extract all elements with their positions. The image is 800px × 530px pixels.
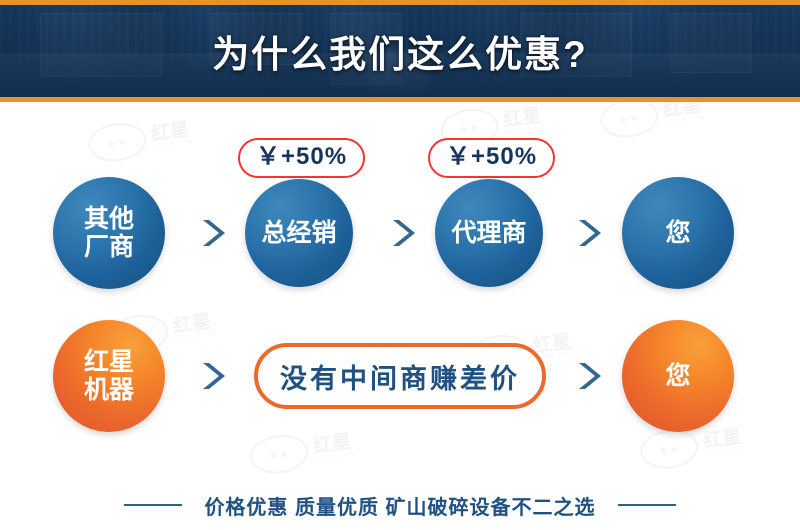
node-general-distributor[interactable]: 总经销 <box>245 179 353 287</box>
watermark-subtext: HONGXING <box>175 330 216 342</box>
watermark-seal-icon: ★★ <box>248 431 311 477</box>
node-customer-blue[interactable]: 您 <box>622 177 734 289</box>
markup-badge-distributor: ￥+50% <box>238 138 365 178</box>
watermark-subtext: HONGXING <box>153 138 194 150</box>
footer-tagline: 价格优惠 质量优质 矿山破碎设备不二之选 <box>0 480 800 530</box>
watermark-subtext: HONGXING <box>505 124 546 136</box>
watermark-subtext: HONGXING <box>705 445 746 457</box>
chevron-right-icon-4 <box>192 355 234 397</box>
watermark-text: 红星 <box>312 431 355 455</box>
node-other-manufacturer[interactable]: 其他 厂商 <box>53 177 165 289</box>
no-middleman-pill[interactable]: 没有中间商赚差价 <box>254 343 546 409</box>
chevron-right-icon-3 <box>568 212 610 254</box>
no-middleman-label: 没有中间商赚差价 <box>280 357 520 396</box>
diagram-body: ★★ 红星 HONGXING ★★ 红星 HONGXING ★★ 红星 HONG… <box>0 102 800 530</box>
watermark-seal-icon: ★★ <box>598 102 661 141</box>
watermark-text: 红星 <box>150 119 193 143</box>
customer-orange-label: 您 <box>665 362 690 390</box>
watermark-text: 红星 <box>662 102 705 120</box>
other-manufacturer-label-line2: 厂商 <box>84 233 134 261</box>
other-manufacturer-label-line1: 其他 <box>84 205 134 233</box>
customer-blue-circle: 您 <box>622 177 734 289</box>
watermark-subtext: HONGXING <box>315 450 356 462</box>
hongxing-label-line1: 红星 <box>84 348 134 376</box>
chevron-right-icon-1 <box>192 212 234 254</box>
general-distributor-circle: 总经销 <box>245 179 353 287</box>
watermark-layer: ★★ 红星 HONGXING ★★ 红星 HONGXING ★★ 红星 HONG… <box>0 102 800 530</box>
chevron-right-icon-5 <box>568 355 610 397</box>
node-customer-orange[interactable]: 您 <box>622 320 734 432</box>
watermark-subtext: HONGXING <box>665 114 706 126</box>
watermark-seal-icon: ★★ <box>638 426 701 472</box>
agent-circle: 代理商 <box>435 179 543 287</box>
hongxing-machinery-circle: 红星 机器 <box>53 320 165 432</box>
hongxing-label-line2: 机器 <box>84 376 134 404</box>
watermark-text: 红星 <box>172 311 215 335</box>
node-agent[interactable]: 代理商 <box>435 179 543 287</box>
watermark-text: 红星 <box>502 105 545 129</box>
markup-badge-agent: ￥+50% <box>428 138 555 178</box>
agent-label: 代理商 <box>451 219 526 247</box>
footer-rule-left <box>124 504 182 506</box>
customer-blue-label: 您 <box>665 219 690 247</box>
header-banner: 为什么我们这么优惠? <box>0 0 800 102</box>
page-title: 为什么我们这么优惠? <box>0 5 800 97</box>
watermark-seal-icon: ★★ <box>86 119 149 165</box>
customer-orange-circle: 您 <box>622 320 734 432</box>
footer-rule-right <box>618 504 676 506</box>
chevron-right-icon-2 <box>382 212 424 254</box>
watermark-text: 红星 <box>532 331 575 355</box>
promo-infographic: 为什么我们这么优惠? ★★ 红星 HONGXING ★★ 红星 HONGXING… <box>0 0 800 530</box>
footer-tagline-text: 价格优惠 质量优质 矿山破碎设备不二之选 <box>204 491 595 520</box>
node-hongxing-machinery[interactable]: 红星 机器 <box>53 320 165 432</box>
general-distributor-label: 总经销 <box>261 219 336 247</box>
other-manufacturer-circle: 其他 厂商 <box>53 177 165 289</box>
